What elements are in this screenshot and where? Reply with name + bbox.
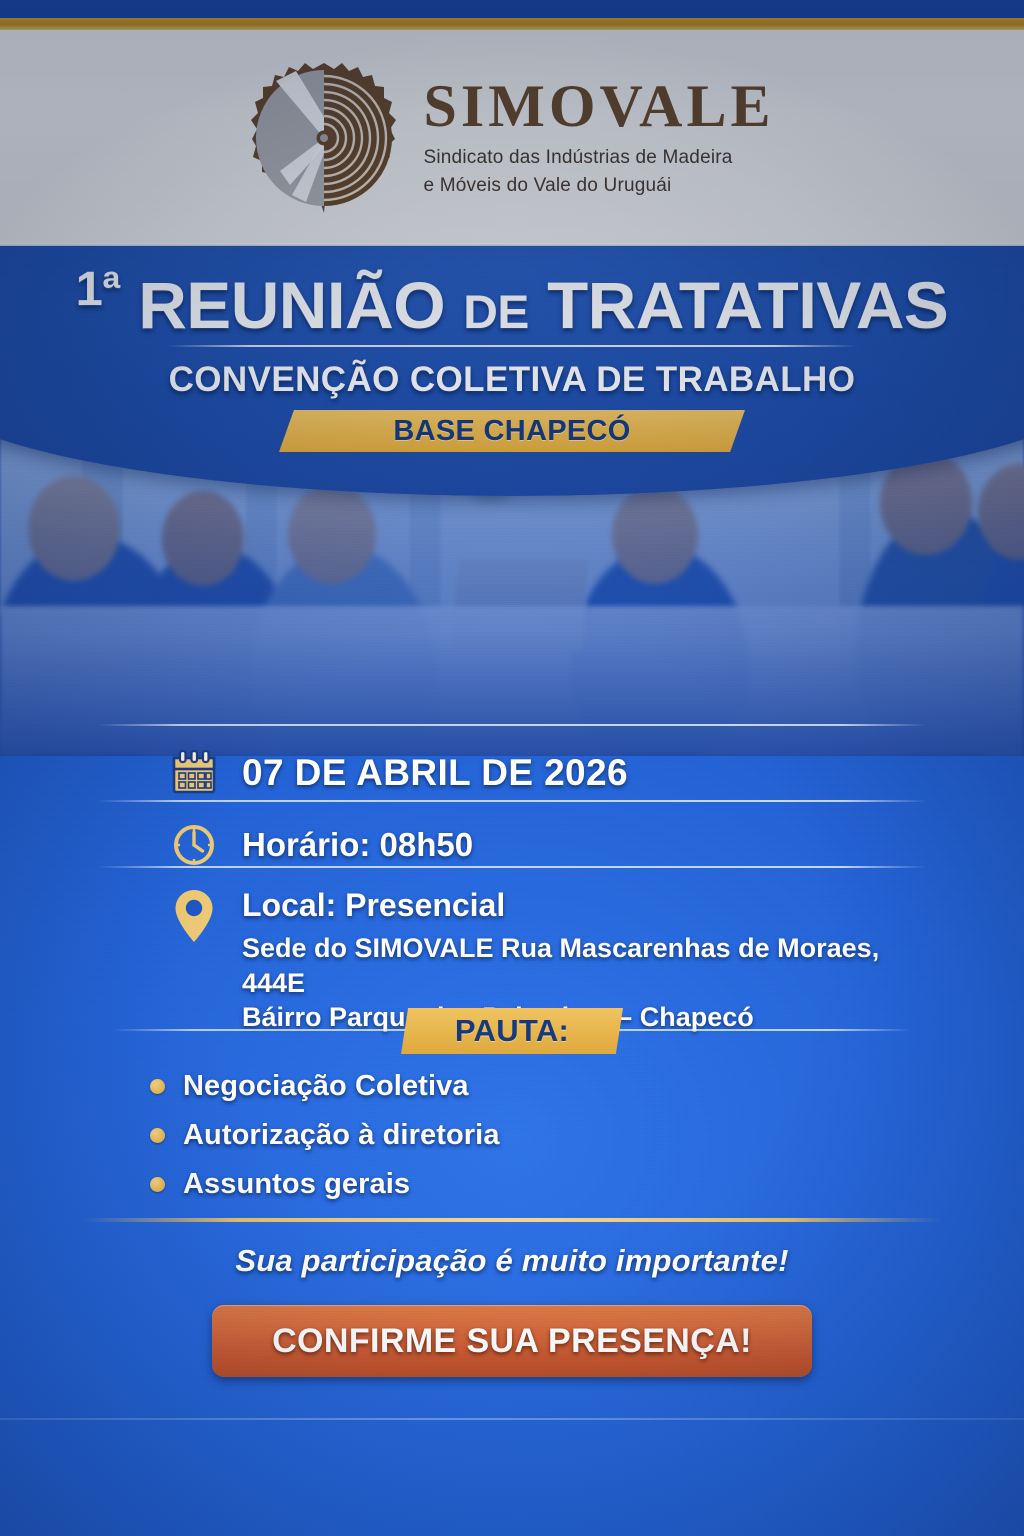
poster-vignette	[0, 0, 1024, 1536]
event-poster: 1ª REUNIÃO DE TRATATIVAS CONVENÇÃO COLET…	[0, 0, 1024, 1536]
